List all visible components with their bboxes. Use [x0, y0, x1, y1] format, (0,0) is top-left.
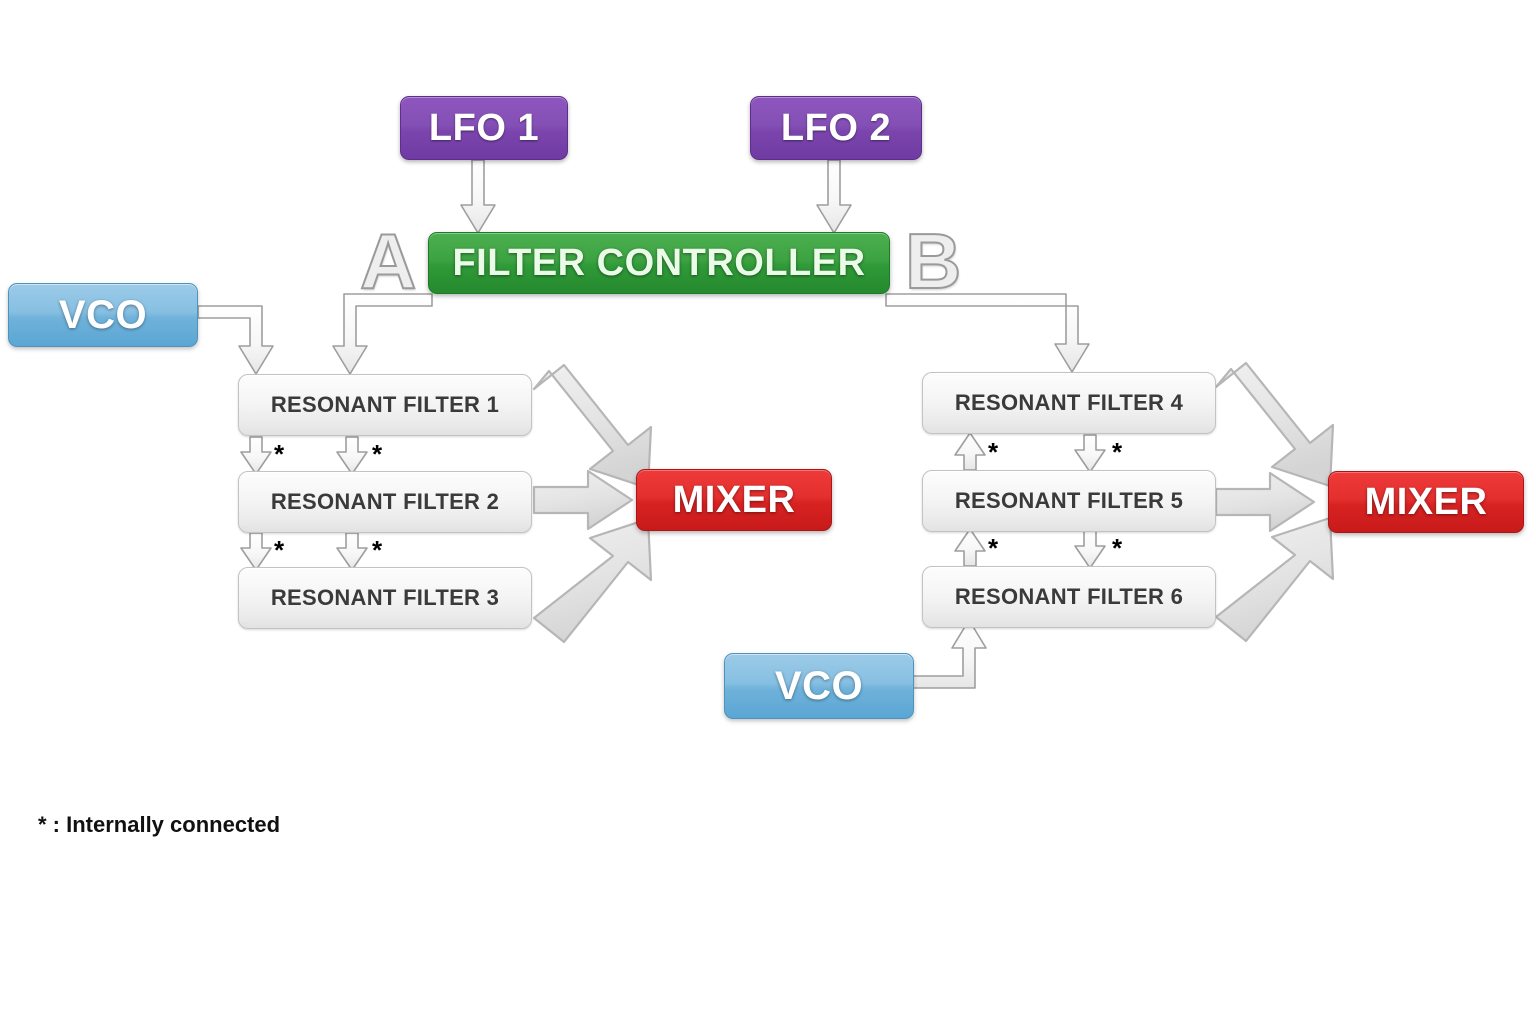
- internal-mark-f4-f5-right: *: [1112, 439, 1122, 465]
- wire-controller-filter1: [333, 294, 432, 374]
- node-mixer-left-label: MIXER: [673, 479, 796, 522]
- internal-arrow-f2-f3-left: [241, 533, 271, 570]
- node-mixer-right-label: MIXER: [1365, 481, 1488, 524]
- node-resonant-filter-4-label: RESONANT FILTER 4: [955, 390, 1183, 416]
- block-arrow-filter1-mixer: [534, 365, 651, 488]
- internal-mark-f2-f3-left: *: [274, 537, 284, 563]
- internal-mark-f5-f6-left: *: [988, 535, 998, 561]
- node-resonant-filter-2[interactable]: RESONANT FILTER 2: [238, 471, 532, 533]
- node-resonant-filter-1-label: RESONANT FILTER 1: [271, 392, 499, 418]
- section-label-a: A: [360, 222, 416, 300]
- node-mixer-left[interactable]: MIXER: [636, 469, 832, 531]
- node-vco-right-label: VCO: [775, 664, 863, 709]
- internal-arrow-f4-f5-right: [1075, 435, 1105, 472]
- wire-controller-filter4: [886, 294, 1089, 372]
- block-arrow-filter4-mixer: [1216, 363, 1333, 486]
- internal-mark-f2-f3-right: *: [372, 537, 382, 563]
- internal-arrow-f1-f2-left: [241, 437, 271, 474]
- internal-arrow-f6-f5-left: [955, 529, 985, 566]
- node-resonant-filter-6[interactable]: RESONANT FILTER 6: [922, 566, 1216, 628]
- node-filter-controller-label: FILTER CONTROLLER: [452, 242, 865, 285]
- node-resonant-filter-6-label: RESONANT FILTER 6: [955, 584, 1183, 610]
- internal-arrow-f5-f6-right: [1075, 531, 1105, 568]
- node-vco-left-label: VCO: [59, 293, 147, 338]
- node-resonant-filter-4[interactable]: RESONANT FILTER 4: [922, 372, 1216, 434]
- wire-lfo2-controller: [817, 160, 851, 233]
- block-arrow-filter6-mixer: [1216, 518, 1333, 641]
- node-lfo1-label: LFO 1: [429, 107, 539, 150]
- wire-vcoright-filter6: [913, 620, 986, 688]
- node-vco-right[interactable]: VCO: [724, 653, 914, 719]
- block-arrow-filter3-mixer: [534, 519, 651, 642]
- internal-mark-f4-f5-left: *: [988, 439, 998, 465]
- section-label-b: B: [905, 222, 961, 300]
- legend-internally-connected: * : Internally connected: [38, 812, 280, 838]
- node-mixer-right[interactable]: MIXER: [1328, 471, 1524, 533]
- wire-lfo1-controller: [461, 160, 495, 233]
- internal-arrow-f2-f3-right: [337, 533, 367, 570]
- block-arrow-filter5-mixer: [1216, 473, 1314, 531]
- wire-vcoleft-filter1: [198, 306, 273, 374]
- internal-arrow-f5-f4-left: [955, 433, 985, 470]
- node-resonant-filter-1[interactable]: RESONANT FILTER 1: [238, 374, 532, 436]
- node-lfo2-label: LFO 2: [781, 107, 891, 150]
- block-arrow-filter2-mixer: [534, 471, 632, 529]
- node-resonant-filter-3[interactable]: RESONANT FILTER 3: [238, 567, 532, 629]
- node-resonant-filter-2-label: RESONANT FILTER 2: [271, 489, 499, 515]
- internal-mark-f1-f2-right: *: [372, 441, 382, 467]
- node-resonant-filter-5[interactable]: RESONANT FILTER 5: [922, 470, 1216, 532]
- node-resonant-filter-3-label: RESONANT FILTER 3: [271, 585, 499, 611]
- node-vco-left[interactable]: VCO: [8, 283, 198, 347]
- internal-mark-f1-f2-left: *: [274, 441, 284, 467]
- diagram-canvas: A B LFO 1 LFO 2 FILTER CONTROLLER VCO VC…: [0, 0, 1536, 1024]
- node-lfo2[interactable]: LFO 2: [750, 96, 922, 160]
- node-lfo1[interactable]: LFO 1: [400, 96, 568, 160]
- node-filter-controller[interactable]: FILTER CONTROLLER: [428, 232, 890, 294]
- node-resonant-filter-5-label: RESONANT FILTER 5: [955, 488, 1183, 514]
- internal-mark-f5-f6-right: *: [1112, 535, 1122, 561]
- internal-arrow-f1-f2-right: [337, 437, 367, 474]
